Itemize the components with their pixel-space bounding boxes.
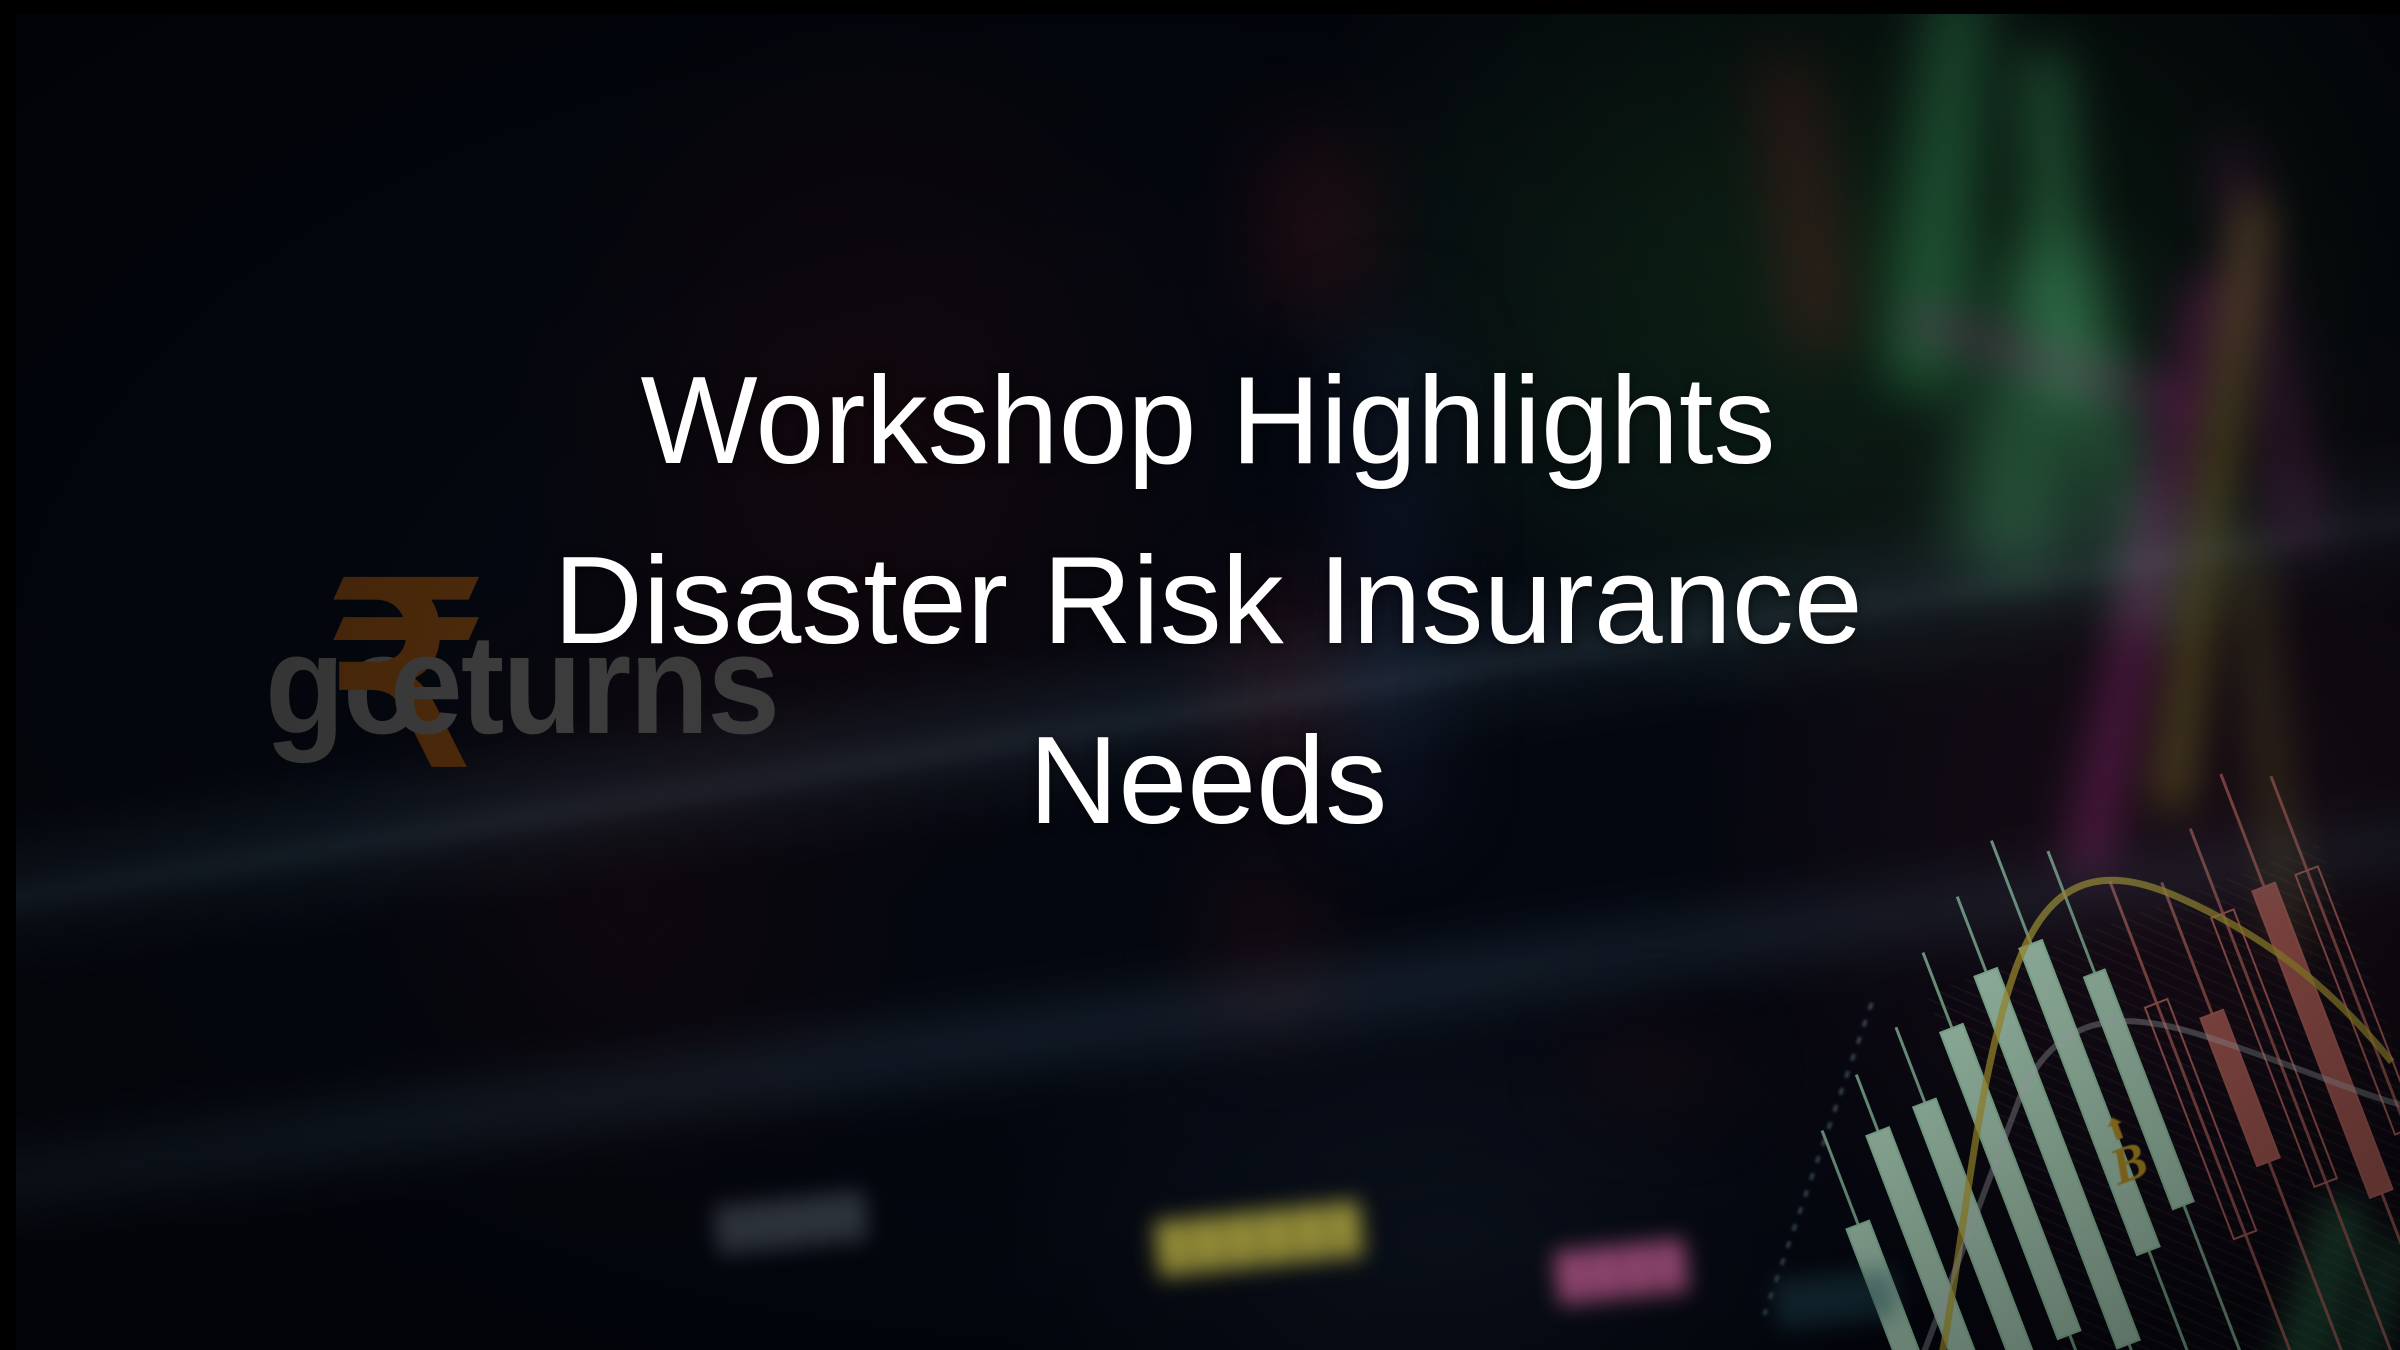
slide-title: Workshop Highlights Disaster Risk Insura…	[16, 14, 2400, 1350]
title-line-3: Needs	[1029, 692, 1387, 870]
title-line-1: Workshop Highlights	[641, 332, 1776, 510]
slide-root: █████ ██████ ████ ████ ⬆ B go ₹ eturns W…	[0, 0, 2400, 1350]
title-line-2: Disaster Risk Insurance	[553, 512, 1862, 690]
